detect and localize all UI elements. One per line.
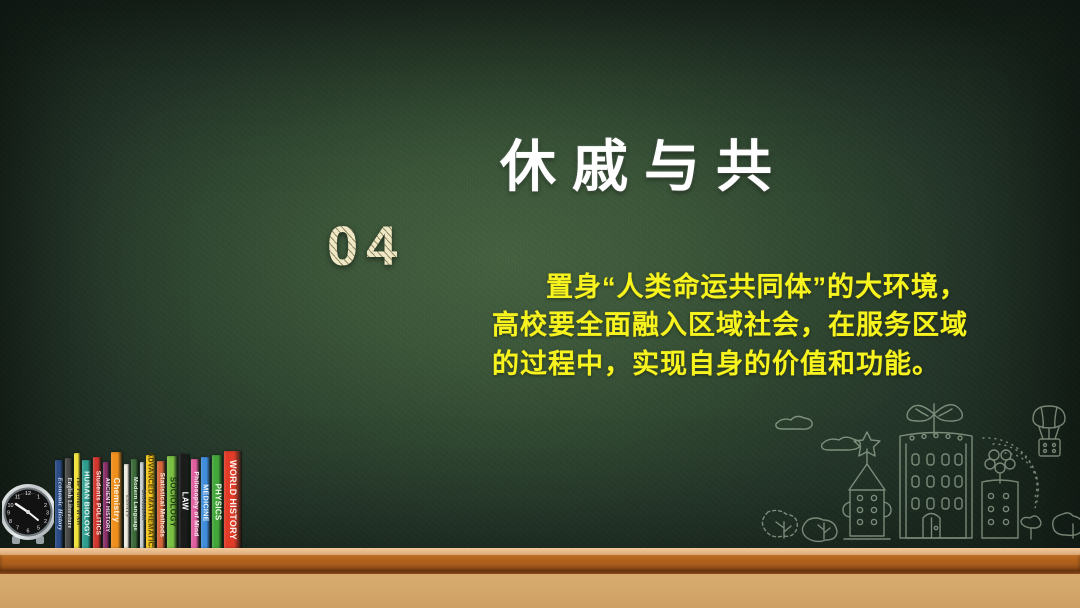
- book-spine: WORLD HISTORY: [224, 451, 242, 548]
- book-spine-title: The Pursuit of Art: [75, 476, 81, 525]
- book-spine: Modern Language: [131, 459, 139, 548]
- clock-center-pin: [26, 510, 30, 514]
- svg-text:6: 6: [27, 529, 30, 535]
- book-spine: The Pursuit of Art: [74, 453, 81, 548]
- svg-text:5: 5: [37, 526, 40, 532]
- book-spine-title: PHYSICS: [213, 483, 222, 520]
- book-spine: PHYSICS: [212, 455, 223, 548]
- shelf-top-edge: [0, 548, 1080, 555]
- book-spine-title: WORLD HISTORY: [228, 460, 238, 540]
- book-spine-title: SOCIOLOGY: [168, 477, 177, 528]
- book-spine-title: Statistical Methods: [158, 472, 165, 537]
- book-spine: GRAMMAR: [140, 462, 145, 548]
- wall-below-shelf: [0, 574, 1080, 608]
- book-spine-title: Philosophy of Mind: [192, 471, 199, 536]
- svg-text:10: 10: [8, 503, 14, 509]
- book-spine-title: Chemistry: [112, 478, 122, 523]
- book-spine-title: HUMAN BIOLOGY: [83, 471, 92, 537]
- book-spine-title: ANCIENT HISTORY: [104, 478, 110, 533]
- page-title: 休戚与共: [500, 139, 788, 195]
- book-spine: HUMAN BIOLOGY: [82, 460, 92, 548]
- svg-text:9: 9: [7, 511, 10, 517]
- book-spine-title: ESSAYS: [124, 495, 130, 517]
- book-spine: MEDICINE: [201, 457, 211, 548]
- svg-text:1: 1: [37, 495, 40, 501]
- desk-clock: 12 1 2 3 2 5 6 7 8 9 10 11: [2, 468, 54, 548]
- svg-text:2: 2: [44, 519, 47, 525]
- book-spine: Philosophy of Mind: [191, 459, 200, 548]
- section-number: 04: [327, 218, 405, 274]
- book-spine: Economic History: [55, 460, 64, 548]
- svg-text:7: 7: [16, 526, 19, 532]
- book-spine: Chemistry: [111, 452, 123, 548]
- book-spine: ESSAYS: [124, 464, 130, 548]
- book-spine: ANCIENT HISTORY: [103, 462, 110, 548]
- book-spine-title: ADVANCED MATHEMATICS: [147, 451, 156, 551]
- book-spine: LAW: [179, 454, 190, 548]
- book-spine-title: Economic History: [56, 477, 63, 530]
- book-spine: SOCIOLOGY: [167, 456, 178, 548]
- body-paragraph: 置身“人类命运共同体”的大环境，高校要全面融入区域社会，在服务区域的过程中，实现…: [492, 268, 992, 383]
- slide-canvas: 04 休戚与共 置身“人类命运共同体”的大环境，高校要全面融入区域社会，在服务区…: [0, 0, 1080, 608]
- book-spine-title: LAW: [180, 492, 189, 510]
- svg-text:8: 8: [9, 519, 12, 525]
- svg-text:2: 2: [44, 503, 47, 509]
- svg-text:3: 3: [46, 511, 49, 517]
- svg-text:12: 12: [25, 491, 31, 497]
- book-spine: Statistical Methods: [157, 461, 166, 548]
- book-spine: English Literature: [65, 458, 73, 548]
- book-spine: ADVANCED MATHEMATICS: [146, 455, 156, 548]
- book-spine-title: Modern Language: [132, 476, 138, 530]
- book-spine-title: MEDICINE: [202, 484, 211, 522]
- shelf-molding: [0, 555, 1080, 572]
- book-spine: Students POLITICS: [93, 457, 102, 548]
- book-spine-title: GRAMMAR: [140, 489, 146, 520]
- book-spine-title: Students POLITICS: [94, 470, 101, 534]
- book-spine-title: English Literature: [66, 478, 72, 529]
- bookshelf-books: Economic HistoryEnglish LiteratureThe Pu…: [55, 448, 243, 548]
